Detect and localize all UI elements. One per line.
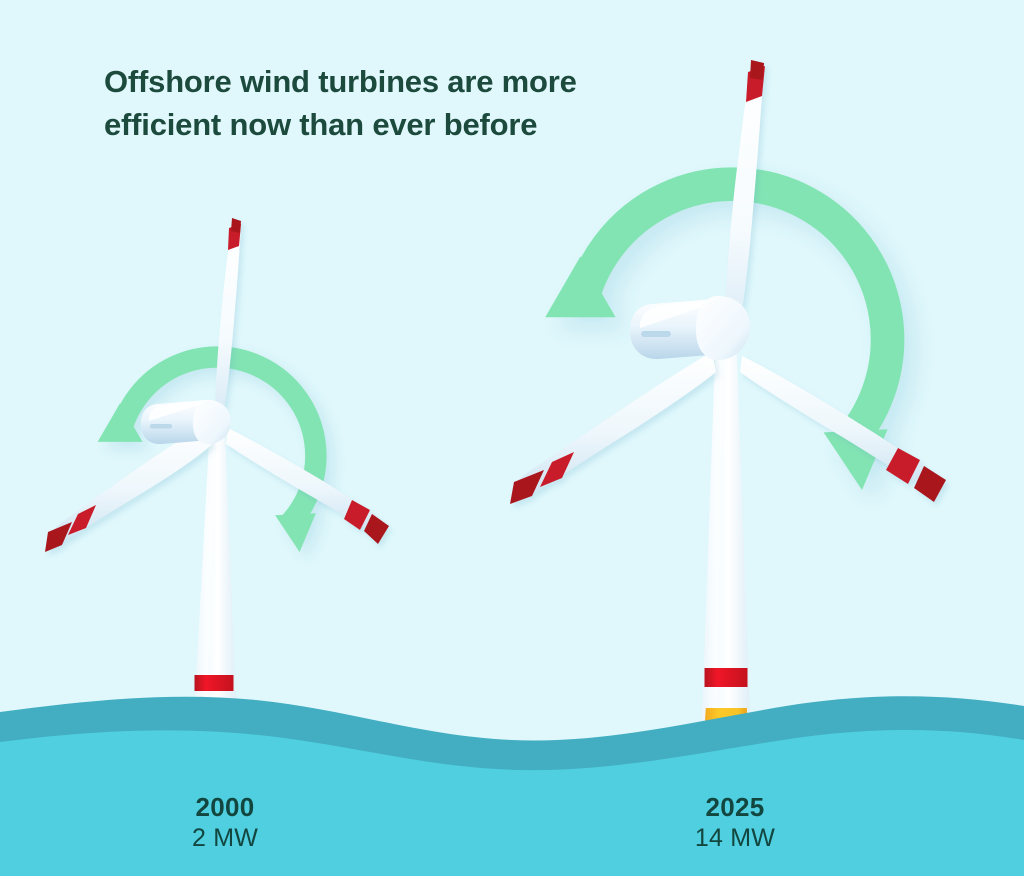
capacity-label-2000: 2 MW <box>120 823 330 854</box>
page-title: Offshore wind turbines are more efficien… <box>104 60 724 147</box>
caption-2025: 2025 14 MW <box>630 793 840 854</box>
tower-red-band-2025 <box>705 668 748 687</box>
capacity-label-2025: 14 MW <box>630 823 840 854</box>
tower-red-band-2000 <box>195 675 234 691</box>
year-label-2000: 2000 <box>120 793 330 823</box>
caption-2000: 2000 2 MW <box>120 793 330 854</box>
year-label-2025: 2025 <box>630 793 840 823</box>
